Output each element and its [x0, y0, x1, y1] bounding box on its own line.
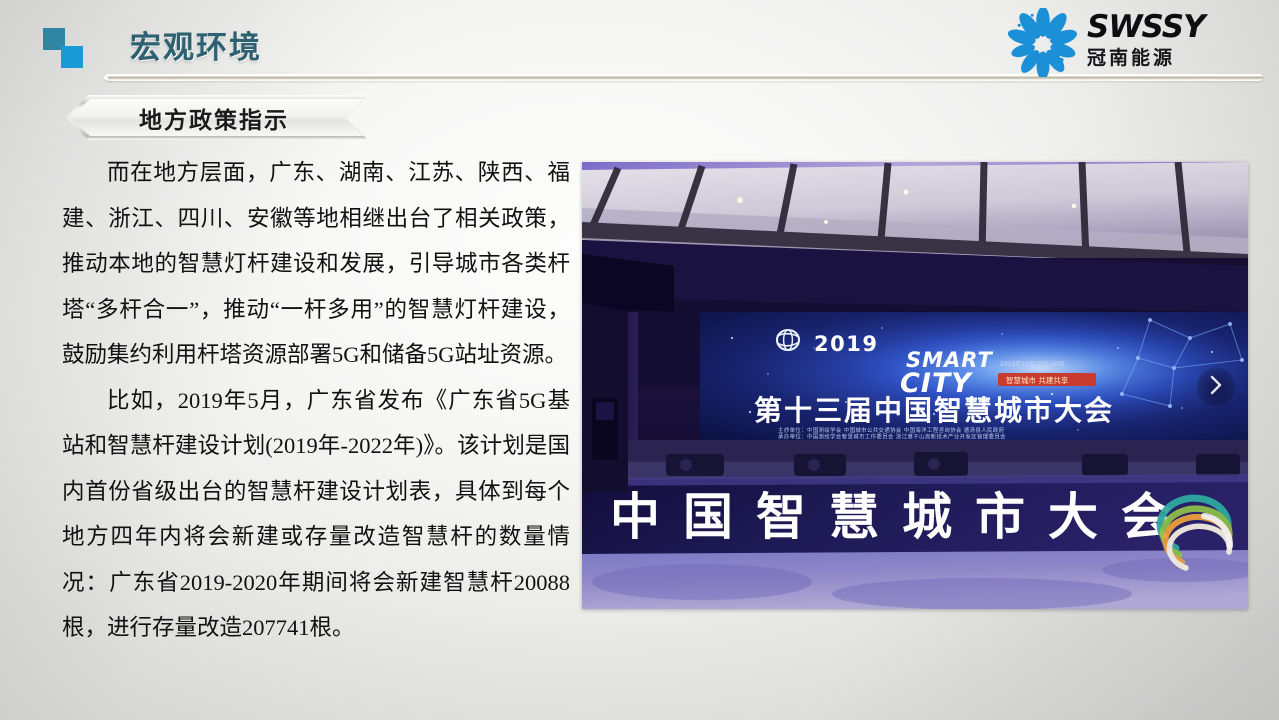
svg-text:2019: 2019: [814, 332, 878, 356]
body-text: 而在地方层面，广东、湖南、江苏、陕西、福建、浙江、四川、安徽等地相继出台了相关政…: [62, 150, 570, 651]
slide-header: 宏观环境: [0, 0, 1279, 88]
page-title: 宏观环境: [130, 22, 262, 67]
brand-text-block: SWSSY 冠南能源: [1087, 10, 1205, 71]
carousel-next-button[interactable]: [1196, 367, 1236, 407]
svg-text:主办单位：中国测绘学会 中国城市公共交通协会 中国海洋工: 主办单位：中国测绘学会 中国城市公共交通协会 中国海洋工程咨询协会 德清县人民政…: [778, 426, 1005, 434]
slide-canvas: 宏观环境: [0, 0, 1279, 720]
svg-text:第十三届中国智慧城市大会: 第十三届中国智慧城市大会: [754, 394, 1114, 427]
brand-logo: SWSSY 冠南能源: [1007, 6, 1257, 78]
section-banner-label: 地方政策指示: [66, 95, 368, 140]
chevron-right-icon: [1207, 374, 1225, 401]
svg-text:智慧城市 共建共享: 智慧城市 共建共享: [1006, 375, 1069, 385]
title-decoration-squares: [43, 28, 85, 68]
brand-name: SWSSY: [1087, 10, 1205, 44]
svg-text:2019年10月28日-30日: 2019年10月28日-30日: [1000, 360, 1064, 368]
petal-burst-icon: [1007, 8, 1079, 74]
section-banner: 地方政策指示: [66, 95, 368, 140]
svg-text:承办单位：中国测绘学会智慧城市工作委员会 浙江莫干山高新技: 承办单位：中国测绘学会智慧城市工作委员会 浙江莫干山高新技术产业开发区管理委员会: [778, 433, 1006, 441]
decoration-square-light: [61, 46, 83, 68]
paragraph-1: 而在地方层面，广东、湖南、江苏、陕西、福建、浙江、四川、安徽等地相继出台了相关政…: [62, 150, 570, 378]
conference-photo: 2019 SMART CITY 2019年10月28日-30日 智慧城市 共建共…: [582, 162, 1248, 609]
paragraph-2: 比如，2019年5月，广东省发布《广东省5G基站和智慧杆建设计划(2019年-2…: [62, 378, 570, 651]
brand-subtitle: 冠南能源: [1087, 45, 1205, 71]
svg-text:中国智慧城市大会: 中国智慧城市大会: [610, 488, 1194, 546]
